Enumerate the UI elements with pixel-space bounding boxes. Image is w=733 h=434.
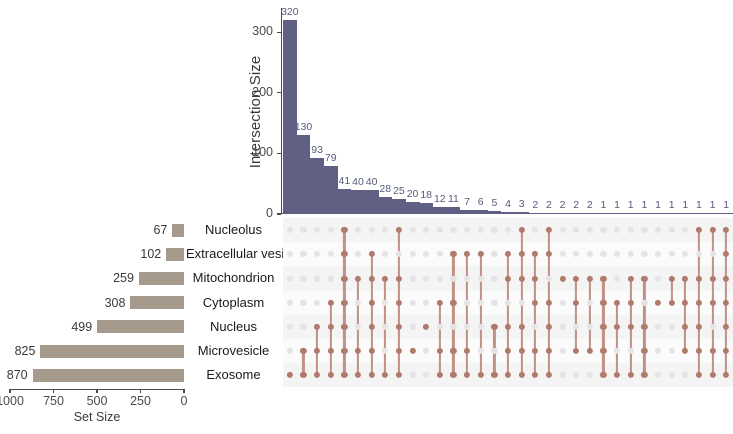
bar-rect (692, 213, 706, 214)
bar-rect (487, 211, 501, 214)
bar-value-label: 2 (587, 199, 593, 211)
intersection-bar[interactable]: 1 (706, 8, 720, 214)
intersection-size-chart: Intersection Size 0100200300 32013093794… (0, 0, 733, 222)
bar-rect (337, 189, 351, 214)
set-size-bar (130, 296, 184, 309)
bar-rect (501, 212, 515, 214)
intersection-bar[interactable]: 1 (719, 8, 733, 214)
bar-rect (542, 213, 556, 214)
bar-value-label: 1 (669, 199, 675, 211)
intersection-bar[interactable]: 7 (460, 8, 474, 214)
matrix-connector-line (439, 303, 441, 376)
set-size-tick-mark (183, 389, 184, 393)
set-size-tick-mark (53, 389, 54, 393)
bar-rect (460, 210, 474, 214)
y-tick-mark (277, 92, 281, 93)
bar-value-label: 40 (352, 176, 364, 188)
intersection-bar[interactable]: 2 (556, 8, 570, 214)
intersection-bar[interactable]: 28 (378, 8, 392, 214)
matrix-connector-line (330, 303, 332, 376)
intersection-bar[interactable]: 4 (501, 8, 515, 214)
intersection-bar[interactable]: 79 (324, 8, 338, 214)
intersection-bar[interactable]: 1 (637, 8, 651, 214)
set-size-tick-label: 0 (181, 394, 188, 408)
bar-rect (569, 213, 583, 214)
bar-value-label: 11 (448, 193, 459, 205)
bar-rect (474, 210, 488, 214)
bar-rect (324, 166, 338, 214)
intersection-bar[interactable]: 40 (365, 8, 379, 214)
bar-rect (433, 207, 447, 214)
bar-rect (283, 20, 297, 214)
bar-value-label: 4 (505, 198, 511, 210)
intersection-bar[interactable]: 3 (515, 8, 529, 214)
intersection-bar[interactable]: 11 (446, 8, 460, 214)
bar-value-label: 12 (434, 193, 446, 205)
bar-rect (556, 213, 570, 214)
set-size-tick-label: 1000 (0, 394, 24, 408)
intersection-bar[interactable]: 1 (692, 8, 706, 214)
bar-value-label: 1 (696, 199, 702, 211)
set-size-row[interactable]: 102 (10, 242, 184, 266)
matrix-connector-line (480, 254, 482, 375)
set-size-row[interactable]: 499 (10, 315, 184, 339)
bar-rect (351, 190, 365, 214)
y-tick-label: 200 (233, 85, 273, 99)
intersection-bar[interactable]: 6 (474, 8, 488, 214)
bar-value-label: 2 (573, 199, 579, 211)
set-size-value-label: 870 (7, 363, 28, 387)
bar-value-label: 41 (339, 175, 351, 187)
set-name-label: Extracellular vesicle (186, 242, 281, 266)
set-size-tick-mark (9, 389, 10, 393)
set-size-bar (33, 369, 184, 382)
set-size-value-label: 825 (15, 339, 36, 363)
set-size-axis-label: Set Size (10, 410, 184, 424)
intersection-bar[interactable]: 2 (569, 8, 583, 214)
bar-value-label: 93 (311, 144, 323, 156)
bar-rect (310, 158, 324, 214)
set-size-bar (166, 248, 184, 261)
set-size-value-label: 499 (71, 315, 92, 339)
bar-value-label: 18 (420, 189, 432, 201)
set-name-label: Exosome (186, 363, 281, 387)
intersection-bar[interactable]: 2 (528, 8, 542, 214)
set-size-value-label: 102 (140, 242, 161, 266)
bar-rect (419, 203, 433, 214)
bar-value-label: 1 (614, 199, 620, 211)
set-size-row[interactable]: 308 (10, 291, 184, 315)
set-size-tick-label: 500 (87, 394, 108, 408)
bar-rect (446, 207, 460, 214)
matrix-connector-line (575, 279, 577, 352)
bar-rect (583, 213, 597, 214)
intersection-bar[interactable]: 1 (665, 8, 679, 214)
bar-rect (365, 190, 379, 214)
bar-rect (678, 213, 692, 214)
bar-value-label: 2 (532, 199, 538, 211)
intersection-bar[interactable]: 1 (678, 8, 692, 214)
set-size-bar (172, 224, 184, 237)
matrix-connector-line (534, 254, 536, 375)
set-size-tick-mark (96, 389, 97, 393)
matrix-connector-line (452, 254, 454, 375)
set-size-value-label: 259 (113, 266, 134, 290)
bar-rect (406, 202, 420, 214)
intersection-bar[interactable]: 5 (487, 8, 501, 214)
y-tick-mark (277, 32, 281, 33)
bar-value-label: 28 (379, 183, 391, 195)
bar-rect (596, 213, 610, 214)
bar-value-label: 1 (628, 199, 634, 211)
bar-value-label: 1 (710, 199, 716, 211)
bar-value-label: 2 (546, 199, 552, 211)
intersection-bar[interactable]: 1 (610, 8, 624, 214)
y-tick-mark (277, 213, 281, 214)
set-size-row[interactable]: 870 (10, 363, 184, 387)
bar-rect (719, 213, 733, 214)
bar-value-label: 25 (393, 185, 405, 197)
matrix-connector-line (371, 254, 373, 375)
bar-rect (296, 135, 310, 214)
set-size-value-label: 308 (105, 291, 126, 315)
set-name-label: Microvesicle (186, 339, 281, 363)
bar-value-label: 3 (519, 198, 525, 210)
set-name-label: Cytoplasm (186, 291, 281, 315)
set-size-row[interactable]: 259 (10, 266, 184, 290)
intersection-bar[interactable]: 40 (351, 8, 365, 214)
intersection-bar[interactable]: 41 (337, 8, 351, 214)
matrix-connector-line (466, 254, 468, 375)
bar-rect (378, 197, 392, 214)
bar-value-label: 79 (325, 152, 337, 164)
bar-rect (528, 213, 542, 214)
bar-rect (637, 213, 651, 214)
intersection-matrix (283, 218, 733, 388)
set-size-row[interactable]: 67 (10, 218, 184, 242)
bar-value-label: 1 (641, 199, 647, 211)
y-tick-mark (277, 153, 281, 154)
bar-rect (665, 213, 679, 214)
set-name-labels: NucleolusExtracellular vesicleMitochondr… (186, 218, 283, 388)
set-size-bars: 67102259308499825870 (10, 218, 184, 388)
intersection-bar[interactable]: 2 (583, 8, 597, 214)
set-name-label: Mitochondrion (186, 266, 281, 290)
bar-value-label: 20 (407, 188, 419, 200)
bar-value-label: 40 (366, 176, 378, 188)
bar-rect (651, 213, 665, 214)
intersection-bars: 3201309379414040282520181211765432222211… (283, 8, 733, 214)
set-size-row[interactable]: 825 (10, 339, 184, 363)
bar-value-label: 7 (464, 196, 470, 208)
bar-value-label: 1 (682, 199, 688, 211)
set-size-tick-label: 250 (130, 394, 151, 408)
intersection-bar[interactable]: 1 (651, 8, 665, 214)
set-size-bar (40, 345, 184, 358)
intersection-bar[interactable]: 320 (283, 8, 297, 214)
bar-rect (515, 212, 529, 214)
bar-value-label: 1 (655, 199, 661, 211)
intersection-bar[interactable]: 93 (310, 8, 324, 214)
y-tick-label: 100 (233, 145, 273, 159)
bar-value-label: 1 (723, 199, 729, 211)
set-size-bar (139, 272, 184, 285)
bar-value-label: 6 (478, 196, 484, 208)
matrix-connector-line (684, 279, 686, 352)
intersection-bar[interactable]: 130 (296, 8, 310, 214)
bar-value-label: 1 (601, 199, 607, 211)
intersection-bar[interactable]: 1 (596, 8, 610, 214)
y-tick-label: 300 (233, 24, 273, 38)
intersection-bar[interactable]: 2 (542, 8, 556, 214)
bar-rect (624, 213, 638, 214)
bar-value-label: 2 (560, 199, 566, 211)
bar-rect (392, 199, 406, 214)
bar-rect (706, 213, 720, 214)
set-name-label: Nucleus (186, 315, 281, 339)
bar-value-label: 5 (491, 197, 497, 209)
set-size-bar (97, 320, 184, 333)
intersection-bar[interactable]: 12 (433, 8, 447, 214)
intersection-bar[interactable]: 18 (419, 8, 433, 214)
matrix-connector-line (589, 279, 591, 352)
set-name-label: Nucleolus (186, 218, 281, 242)
set-size-tick-label: 750 (43, 394, 64, 408)
intersection-bar[interactable]: 25 (392, 8, 406, 214)
upset-plot: Intersection Size 0100200300 32013093794… (0, 0, 733, 434)
intersection-bar[interactable]: 20 (406, 8, 420, 214)
set-size-tick-mark (140, 389, 141, 393)
matrix-connector-line (507, 254, 509, 375)
bar-rect (610, 213, 624, 214)
intersection-bar[interactable]: 1 (624, 8, 638, 214)
set-size-value-label: 67 (153, 218, 167, 242)
matrix-connector-line (616, 303, 618, 376)
